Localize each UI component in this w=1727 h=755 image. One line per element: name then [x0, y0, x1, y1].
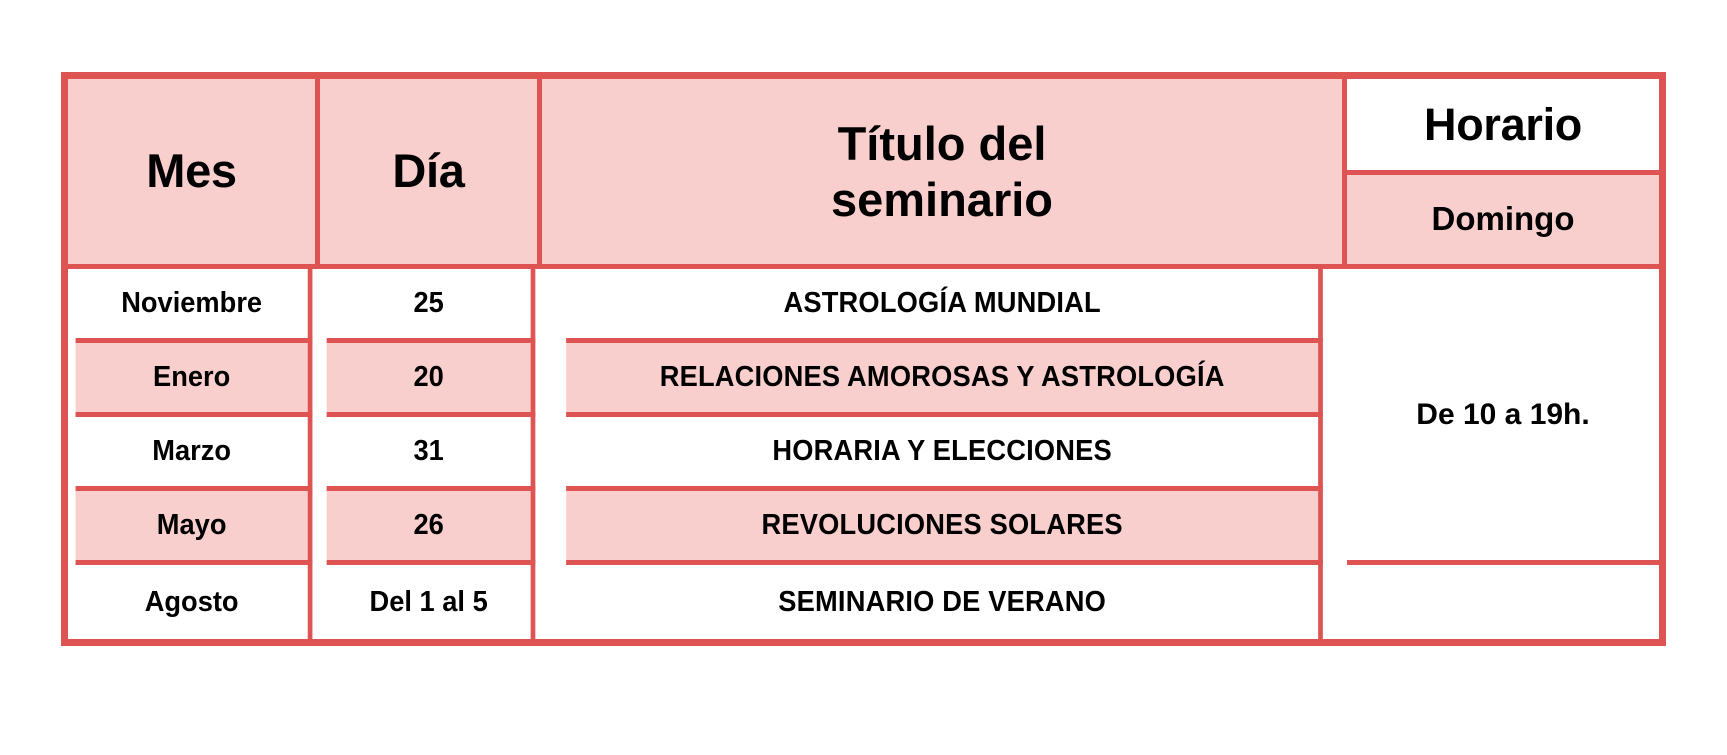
- cell-titulo: SEMINARIO DE VERANO: [566, 565, 1323, 639]
- cell-titulo: ASTROLOGÍA MUNDIAL: [566, 269, 1323, 343]
- cell-mes: Noviembre: [76, 269, 313, 343]
- table-body: Noviembre 25 ASTROLOGÍA MUNDIAL De 10 a …: [68, 269, 1659, 639]
- cell-mes: Enero: [76, 343, 313, 417]
- column-header-domingo: Domingo: [1347, 175, 1659, 269]
- cell-mes: Mayo: [76, 491, 313, 565]
- cell-dia: 20: [327, 343, 536, 417]
- page-root: Mes Día Título del seminario Horario Dom…: [0, 0, 1727, 755]
- table-row: Agosto Del 1 al 5 SEMINARIO DE VERANO: [68, 565, 1659, 639]
- cell-titulo: RELACIONES AMOROSAS Y ASTROLOGÍA: [566, 343, 1323, 417]
- cell-dia: Del 1 al 5: [327, 565, 536, 639]
- column-header-titulo-line1: Título del: [548, 116, 1336, 171]
- column-header-titulo: Título del seminario: [542, 79, 1347, 269]
- column-header-mes: Mes: [68, 79, 320, 269]
- column-header-horario: Horario: [1347, 79, 1659, 175]
- table-header: Mes Día Título del seminario Horario Dom…: [68, 79, 1659, 269]
- column-header-titulo-line2: seminario: [548, 172, 1336, 227]
- cell-mes: Agosto: [76, 565, 313, 639]
- cell-horario-empty: [1347, 565, 1659, 639]
- table-row: Noviembre 25 ASTROLOGÍA MUNDIAL De 10 a …: [68, 269, 1659, 343]
- cell-dia: 26: [327, 491, 536, 565]
- cell-horario-merged: De 10 a 19h.: [1347, 269, 1659, 565]
- seminar-schedule-table: Mes Día Título del seminario Horario Dom…: [61, 72, 1666, 646]
- column-header-dia: Día: [320, 79, 542, 269]
- cell-titulo: HORARIA Y ELECCIONES: [566, 417, 1323, 491]
- cell-mes: Marzo: [76, 417, 313, 491]
- cell-dia: 31: [327, 417, 536, 491]
- cell-dia: 25: [327, 269, 536, 343]
- header-row-primary: Mes Día Título del seminario Horario: [68, 79, 1659, 175]
- cell-titulo: REVOLUCIONES SOLARES: [566, 491, 1323, 565]
